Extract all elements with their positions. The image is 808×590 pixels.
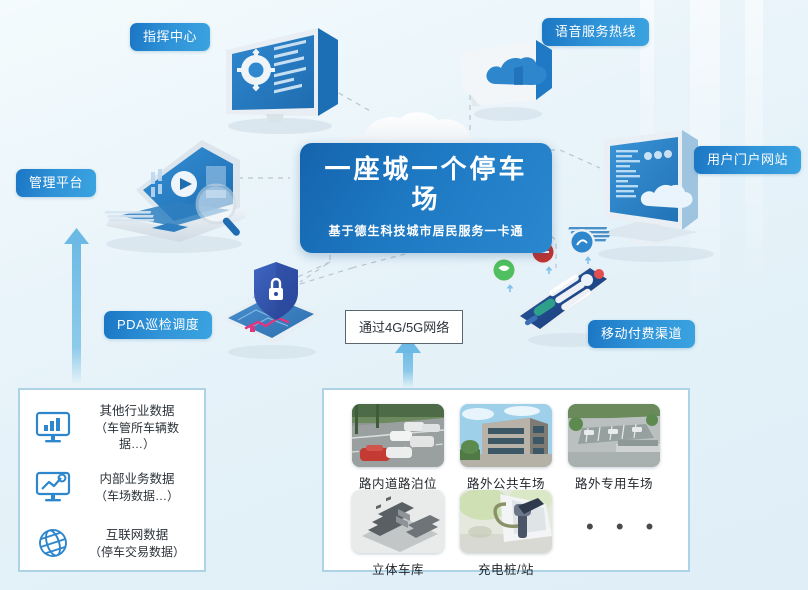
data-source-title: 其他行业数据 <box>82 403 192 420</box>
parking-type-item[interactable]: 立体车库 <box>352 490 444 578</box>
dedicated-lot-photo <box>568 404 660 467</box>
parking-type-item[interactable]: 路外专用车场 <box>568 404 660 492</box>
label-pda-inspection[interactable]: PDA巡检调度 <box>104 311 212 339</box>
line-chart-monitor-icon <box>30 466 76 508</box>
multilevel-garage-photo <box>352 490 444 553</box>
parking-type-item[interactable]: 路外公共车场 <box>460 404 552 492</box>
parking-type-caption: 充电桩/站 <box>460 559 552 578</box>
label-mobile-payment[interactable]: 移动付费渠道 <box>588 320 695 348</box>
network-box: 通过4G/5G网络 <box>345 310 463 344</box>
parking-type-item[interactable]: 路内道路泊位 <box>352 404 444 492</box>
public-garage-photo <box>460 404 552 467</box>
center-banner: 一座城一个停车场 基于德生科技城市居民服务一卡通 <box>300 143 552 253</box>
tablet-shield-lock-illustration <box>216 256 328 366</box>
parking-type-caption: 路外专用车场 <box>568 473 660 492</box>
parking-type-caption: 立体车库 <box>352 559 444 578</box>
union-app-icon <box>569 229 595 255</box>
data-source-detail: （停车交易数据） <box>82 544 192 560</box>
gear-monitor-illustration <box>210 18 350 138</box>
more-parking-types-indicator: • • • <box>586 514 661 540</box>
data-source-text: 互联网数据 （停车交易数据） <box>82 527 192 560</box>
data-source-title: 内部业务数据 <box>82 471 192 488</box>
parking-types-panel: 路内道路泊位 <box>322 388 690 572</box>
data-source-text: 内部业务数据 （车场数据…） <box>82 471 192 504</box>
label-management-platform[interactable]: 管理平台 <box>16 169 96 197</box>
data-source-row[interactable]: 内部业务数据 （车场数据…） <box>30 466 204 508</box>
data-source-detail: （车场数据…） <box>82 488 192 504</box>
wechat-app-icon <box>491 257 517 283</box>
banner-subtitle: 基于德生科技城市居民服务一卡通 <box>322 222 530 239</box>
parking-type-item[interactable]: 充电桩/站 <box>460 490 552 578</box>
data-source-row[interactable]: 互联网数据 （停车交易数据） <box>30 522 204 564</box>
ev-charging-photo <box>460 490 552 553</box>
label-voice-hotline[interactable]: 语音服务热线 <box>542 18 649 46</box>
label-user-portal[interactable]: 用户门户网站 <box>694 146 801 174</box>
data-flow-arrow-left <box>58 228 98 384</box>
globe-icon <box>30 522 76 564</box>
infographic-canvas: 一座城一个停车场 基于德生科技城市居民服务一卡通 指挥中心 语音服务热线 管理平… <box>0 0 808 590</box>
data-sources-panel: 其他行业数据 （车管所车辆数据…） 内部业务数据 （车场数据…） <box>18 388 206 572</box>
data-source-detail: （车管所车辆数据…） <box>82 420 192 452</box>
data-source-title: 互联网数据 <box>82 527 192 544</box>
label-command-center[interactable]: 指挥中心 <box>130 23 210 51</box>
street-parking-photo <box>352 404 444 467</box>
data-source-text: 其他行业数据 （车管所车辆数据…） <box>82 403 192 452</box>
bar-chart-monitor-icon <box>30 407 76 449</box>
banner-title: 一座城一个停车场 <box>322 155 530 215</box>
laptop-magnifier-illustration <box>88 132 248 257</box>
data-source-row[interactable]: 其他行业数据 （车管所车辆数据…） <box>30 403 204 452</box>
